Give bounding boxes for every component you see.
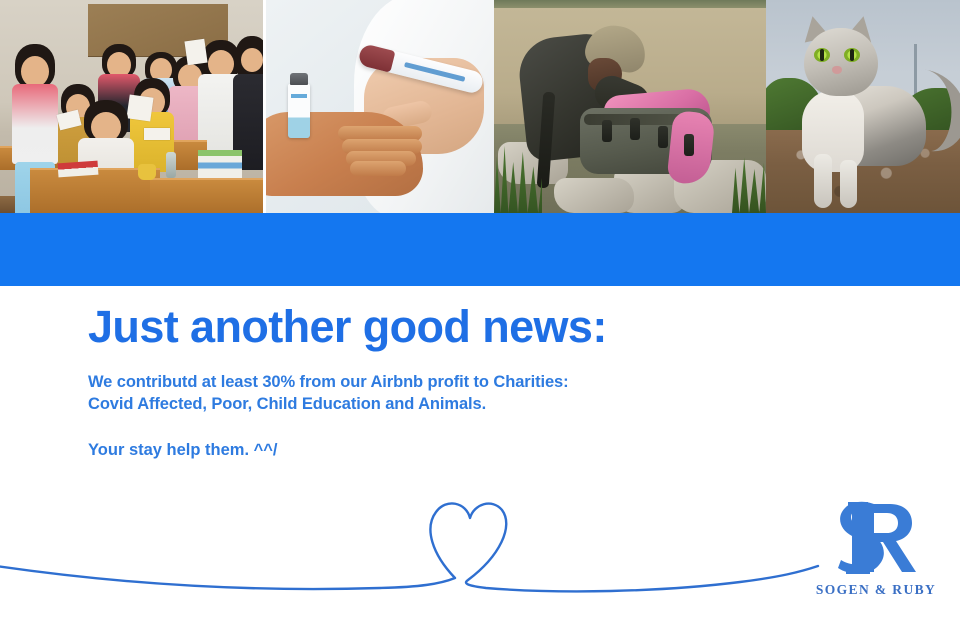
paper-sheet — [184, 39, 207, 66]
blue-accent-band — [0, 213, 960, 286]
water-bottle — [166, 152, 176, 178]
cat-eye — [814, 48, 830, 62]
photo-stray-cat — [766, 0, 960, 213]
photo-covid-vaccine — [266, 0, 494, 213]
cat-leg — [814, 154, 832, 208]
vaccine-vial — [288, 84, 310, 138]
photo-homeless-person — [494, 0, 766, 213]
homeless-scene — [494, 0, 766, 213]
subcopy-line1-post: from our Airbnb profit to Charities: — [295, 373, 568, 391]
heart-line-path — [0, 503, 818, 591]
subcopy-line1-pre: We contributd at least — [88, 373, 262, 391]
photo-classroom — [0, 0, 263, 213]
bag-buckle — [630, 118, 640, 140]
cat-leg — [782, 64, 800, 112]
cat-leg — [840, 160, 857, 208]
photo-strip — [0, 0, 960, 213]
cat-head — [804, 28, 878, 96]
bag-buckle — [658, 126, 668, 148]
yellow-cup — [138, 164, 156, 180]
sr-monogram-icon — [822, 496, 930, 580]
wall-top-edge — [494, 0, 766, 8]
bag-buckle — [602, 120, 612, 142]
cat-scene — [766, 0, 960, 213]
brand-wordmark: SOGEN & RUBY — [800, 582, 952, 598]
subcopy-paragraph: We contributd at least 30% from our Airb… — [88, 371, 708, 415]
cat-chest — [802, 90, 864, 172]
stray-cat — [782, 14, 946, 204]
bag-buckle — [684, 134, 694, 156]
desk — [150, 178, 263, 213]
page-title: Just another good news: — [88, 300, 708, 354]
cat-leg — [782, 14, 800, 64]
cat-nose — [832, 66, 842, 74]
poster-canvas: Just another good news: We contributd at… — [0, 0, 960, 639]
vaccine-scene — [266, 0, 494, 213]
message-block: Just another good news: We contributd at… — [88, 300, 708, 461]
book-stack — [198, 150, 242, 178]
rock — [554, 178, 634, 213]
classroom-scene — [0, 0, 263, 213]
brand-logo: SOGEN & RUBY — [800, 496, 952, 606]
open-book — [58, 161, 99, 178]
subcopy-line2: Covid Affected, Poor, Child Education an… — [88, 395, 486, 413]
contribution-percent: 30% — [262, 373, 295, 391]
closing-line: Your stay help them. ^^/ — [88, 439, 708, 461]
paper-sheet — [144, 128, 170, 140]
fingers — [338, 126, 424, 172]
cat-eye — [844, 48, 860, 62]
